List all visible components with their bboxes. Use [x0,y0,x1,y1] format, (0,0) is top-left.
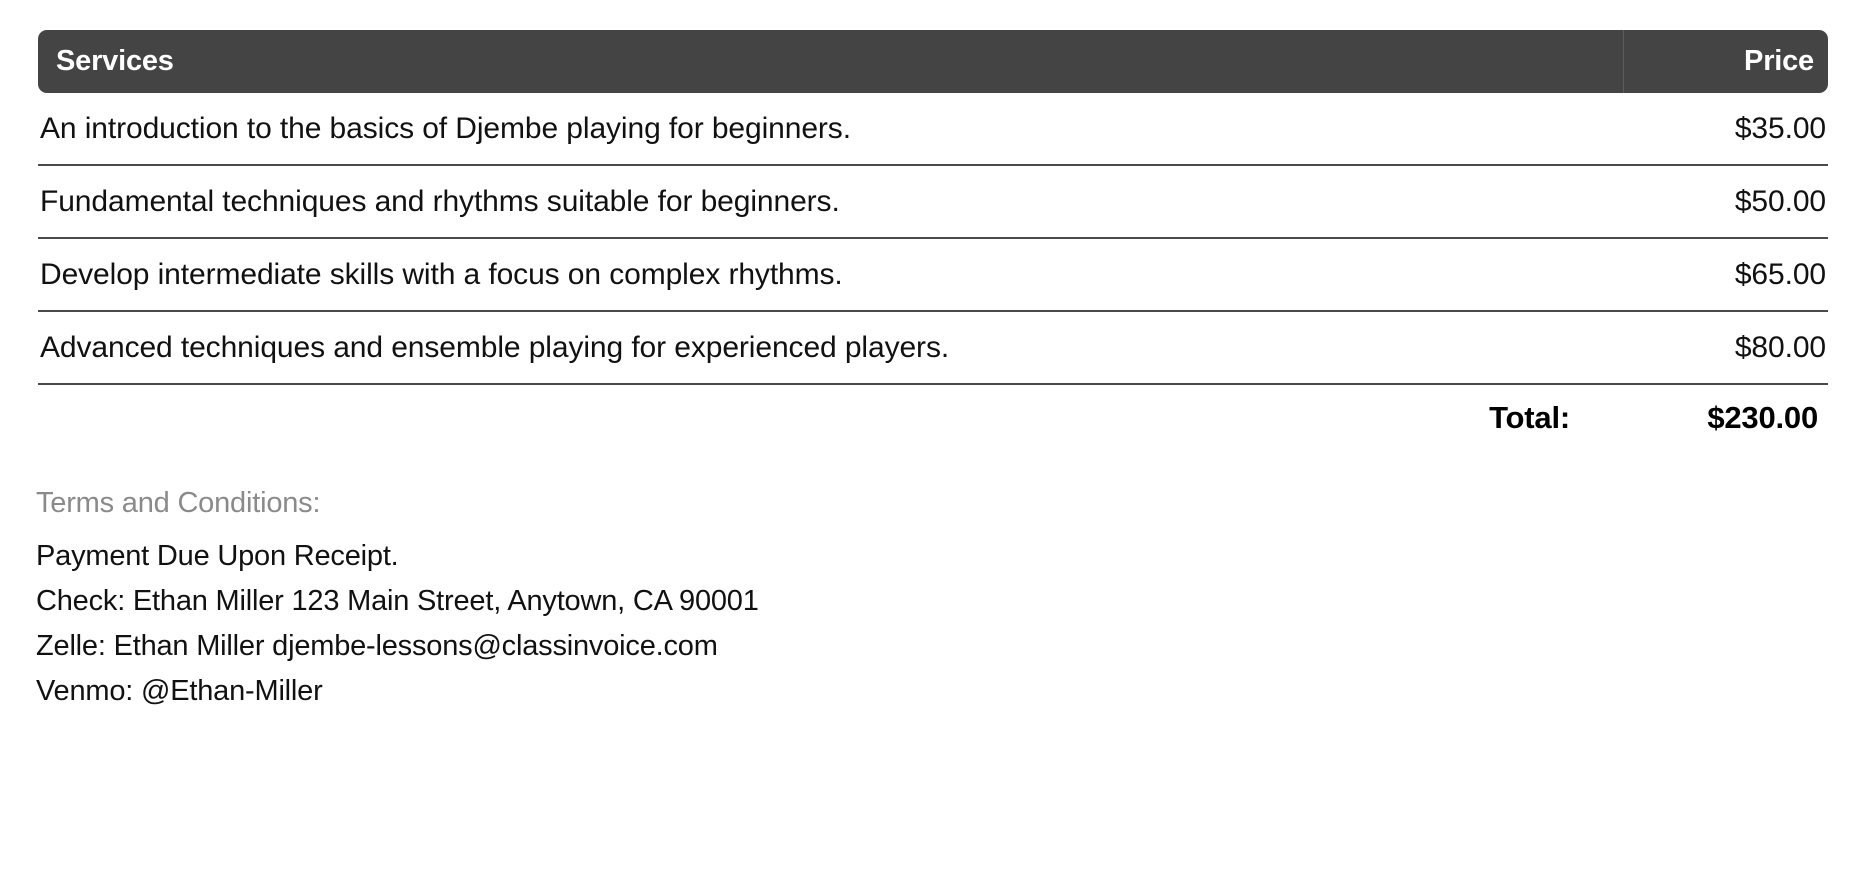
table-row: Advanced techniques and ensemble playing… [38,312,1828,385]
service-price: $35.00 [1526,112,1828,146]
terms-line-venmo: Venmo: @Ethan-Miller [36,669,1436,714]
column-header-price: Price [1624,47,1828,76]
total-row: Total: $230.00 [38,385,1828,451]
service-price: $80.00 [1526,331,1828,365]
service-price: $65.00 [1526,258,1828,292]
terms-line-zelle: Zelle: Ethan Miller djembe-lessons@class… [36,624,1436,669]
service-price: $50.00 [1526,185,1828,219]
table-row: Develop intermediate skills with a focus… [38,239,1828,312]
terms-title: Terms and Conditions: [36,487,1436,520]
table-row: Fundamental techniques and rhythms suita… [38,166,1828,239]
service-description: An introduction to the basics of Djembe … [38,112,1526,146]
services-price-table: Services Price An introduction to the ba… [38,30,1828,451]
service-description: Develop intermediate skills with a focus… [38,258,1526,292]
terms-line-payment-due: Payment Due Upon Receipt. [36,534,1436,579]
terms-line-check: Check: Ethan Miller 123 Main Street, Any… [36,579,1436,624]
service-description: Advanced techniques and ensemble playing… [38,331,1526,365]
total-amount: $230.00 [1648,400,1828,436]
table-row: An introduction to the basics of Djembe … [38,93,1828,166]
total-label: Total: [1489,400,1648,436]
service-description: Fundamental techniques and rhythms suita… [38,185,1526,219]
invoice-sheet: Services Price An introduction to the ba… [0,0,1868,870]
table-header-row: Services Price [38,30,1828,93]
column-header-services: Services [38,47,1623,76]
terms-and-conditions-section: Terms and Conditions: Payment Due Upon R… [36,487,1436,714]
